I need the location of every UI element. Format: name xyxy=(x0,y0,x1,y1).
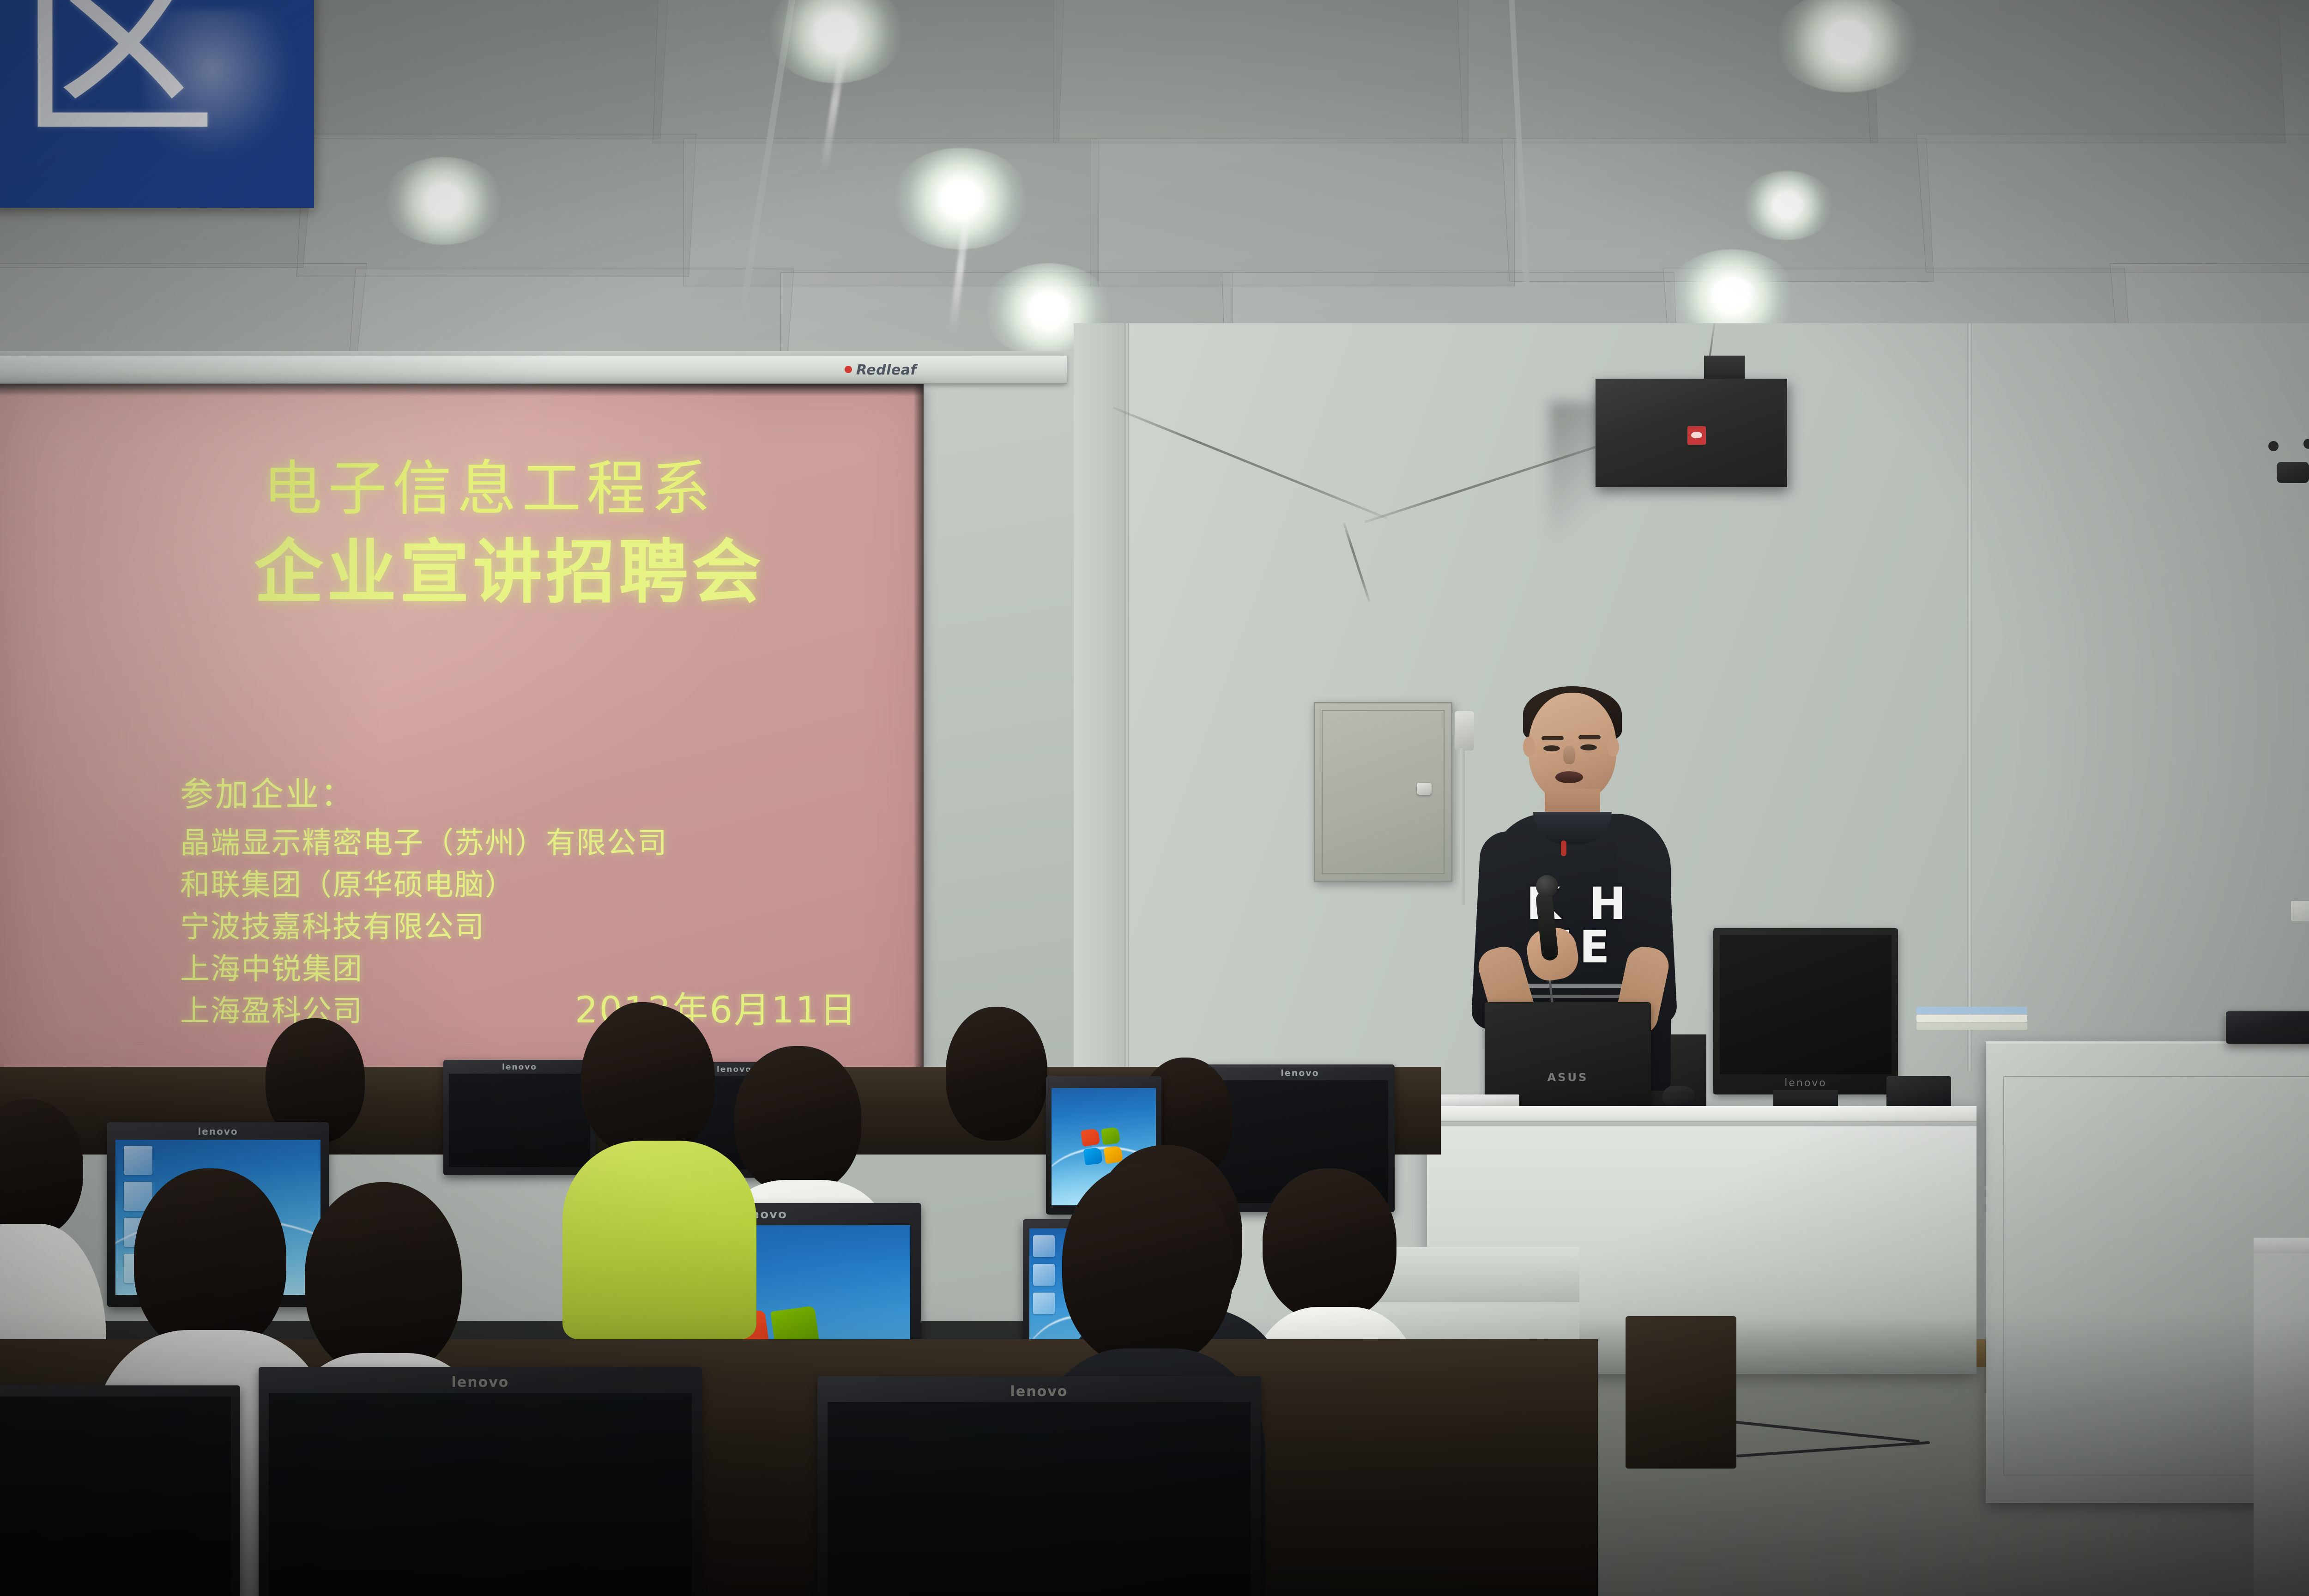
screen-brand-label: Redleaf xyxy=(856,362,917,378)
presenter-mouth xyxy=(1555,771,1583,783)
brand-dot-icon xyxy=(845,366,852,373)
wall-seam xyxy=(1124,323,1129,1108)
monitor-brand-label: lenovo xyxy=(1281,1068,1319,1078)
student-head xyxy=(1263,1168,1396,1321)
podium-monitor-brand-label: lenovo xyxy=(1784,1077,1827,1089)
presenter-brow xyxy=(1541,736,1564,740)
desk-surface xyxy=(1427,1106,1977,1122)
projection-screen: 电子信息工程系 企业宣讲招聘会 参加企业： 晶端显示精密电子（苏州）有限公司 和… xyxy=(0,384,924,1086)
monitor-brand-label: lenovo xyxy=(198,1126,238,1137)
book xyxy=(1916,1015,2027,1022)
electrical-panel[interactable] xyxy=(1314,702,1452,882)
company-item: 和联集团（原华硕电脑） xyxy=(180,864,668,907)
student-head xyxy=(0,1099,83,1238)
slide-title-line-2: 企业宣讲招聘会 xyxy=(254,537,765,610)
presenter-eye xyxy=(1580,744,1597,750)
book xyxy=(1916,1022,2027,1030)
tshirt-graphic-bar xyxy=(1524,984,1632,988)
mic-indicator-icon xyxy=(1561,840,1566,856)
student-monitor-off[interactable]: lenovo xyxy=(443,1060,596,1175)
presenter-eye xyxy=(1543,745,1560,751)
student-head xyxy=(946,1007,1047,1141)
student-monitor-front[interactable] xyxy=(0,1385,240,1596)
desk-mouse-icon[interactable] xyxy=(1662,1086,1695,1107)
monitor-brand-label: lenovo xyxy=(502,1063,537,1072)
student-head xyxy=(134,1168,286,1353)
side-desk xyxy=(2254,1253,2309,1596)
side-desk-shelf xyxy=(2254,1238,2309,1253)
presenter-nose xyxy=(1563,746,1575,764)
screen-right-edge xyxy=(913,384,924,1086)
student-head xyxy=(1062,1164,1233,1367)
speaker-logo-badge-icon xyxy=(1687,426,1706,445)
desk-cable-coil xyxy=(1886,1076,1951,1108)
student xyxy=(937,1007,1053,1168)
blue-wall-sign: 区 xyxy=(0,0,314,208)
sign-glare xyxy=(143,9,296,162)
company-item: 宁波技嘉科技有限公司 xyxy=(180,907,668,949)
podium-monitor-screen xyxy=(1720,935,1892,1074)
presenter-brow xyxy=(1578,735,1601,739)
wall-mounted-speaker xyxy=(1596,379,1787,487)
book xyxy=(1916,1007,2027,1014)
student-head xyxy=(734,1046,861,1194)
desk-edge xyxy=(1427,1122,1977,1126)
student-head xyxy=(581,1004,715,1157)
wall-outlet-icon[interactable] xyxy=(2291,901,2309,922)
tshirt-graphic-bar xyxy=(1528,995,1627,998)
projector-screen-housing: Redleaf xyxy=(0,356,1067,384)
company-item: 晶端显示精密电子（苏州）有限公司 xyxy=(180,822,668,864)
student xyxy=(576,1004,752,1337)
suspended-ceiling xyxy=(0,0,2309,379)
student-head xyxy=(305,1182,462,1376)
student-monitor-front[interactable]: lenovo xyxy=(259,1367,702,1596)
wall-conduit xyxy=(1460,748,1465,905)
classroom-photo-scene: 区 Redleaf 电子信息工程系 企业宣讲招聘会 参加企业： 晶端显示 xyxy=(0,0,2309,1596)
panel-knob-icon[interactable] xyxy=(1417,783,1432,795)
monitor-brand-label: lenovo xyxy=(452,1374,509,1390)
wall-seam xyxy=(1967,323,1972,1071)
laptop-brand-label: ASUS xyxy=(1547,1071,1589,1084)
monitor-brand-label: lenovo xyxy=(1010,1384,1068,1400)
presenter-ear xyxy=(1607,737,1619,757)
smoke-detector-icon xyxy=(2277,462,2309,483)
presenter-ear xyxy=(1523,737,1535,757)
student-monitor-front[interactable]: lenovo xyxy=(817,1376,1261,1596)
side-monitor-dark[interactable] xyxy=(2226,1011,2309,1044)
stacked-books xyxy=(1916,1007,2027,1034)
podium-monitor[interactable]: lenovo xyxy=(1713,928,1898,1094)
slide-section-label: 参加企业： xyxy=(180,772,668,817)
student-body xyxy=(562,1141,756,1339)
chair[interactable] xyxy=(1626,1316,1736,1469)
screen-top-band xyxy=(0,384,924,396)
ceiling-sensor-icon xyxy=(2268,441,2279,451)
slide-title-line-1: 电子信息工程系 xyxy=(263,458,716,520)
microphone-head-icon xyxy=(1536,875,1558,897)
